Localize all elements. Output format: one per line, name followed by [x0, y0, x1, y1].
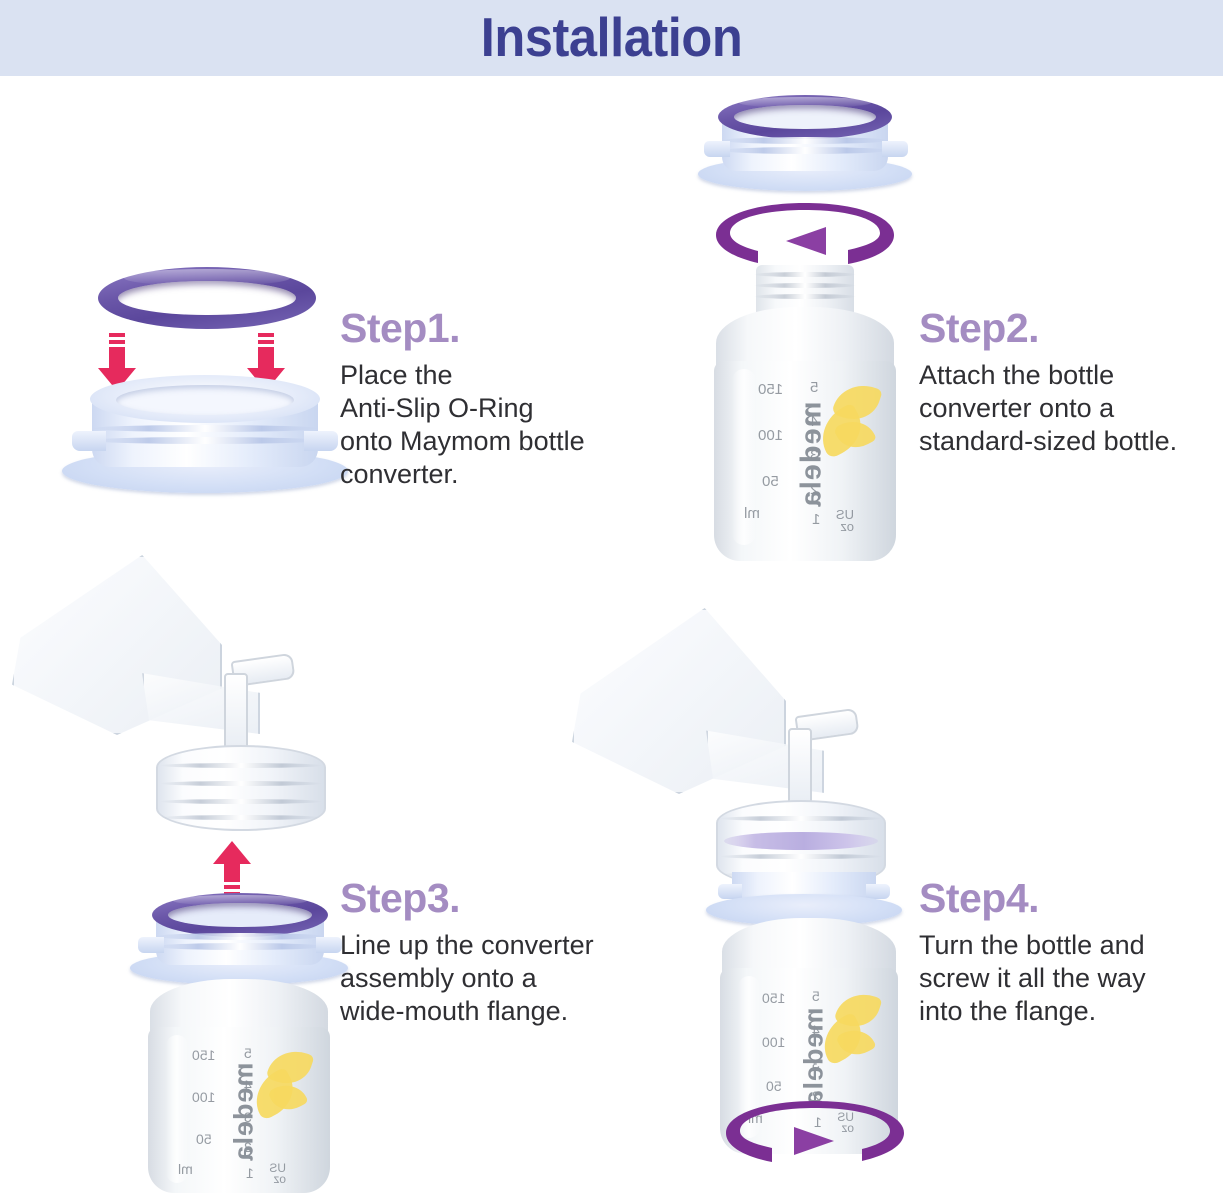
- bottle-oz-mark-4: 4: [244, 1077, 252, 1093]
- bottle-ml-mark-50: 50: [766, 1078, 782, 1094]
- flange-collar-ridge-2: [720, 854, 882, 859]
- bottle-oz-mark-2: 2: [810, 481, 818, 498]
- converter-tab-right: [866, 884, 890, 899]
- bottle-oz-mark-4: 4: [810, 413, 818, 430]
- converter-tab-right: [304, 431, 338, 451]
- bottle-neck-thread-2: [754, 283, 856, 288]
- converter-tab-left: [72, 431, 106, 451]
- rotation-arrow-counterclockwise: [708, 197, 902, 269]
- o-ring-part: [98, 267, 316, 329]
- bottle-ml-mark-100: 100: [762, 1034, 785, 1050]
- wide-mouth-flange: [560, 600, 890, 890]
- bottle-oz-mark-2: 2: [244, 1139, 252, 1155]
- converter-with-oring: [128, 893, 350, 993]
- flange-collar-ridge-1: [160, 763, 322, 768]
- bottle-oz-unit: US oz: [830, 509, 854, 533]
- step1-body: Place the Anti-Slip O-Ring onto Maymom b…: [340, 359, 640, 491]
- bottle-neck-thread-3: [754, 294, 856, 299]
- step1-illustration: [60, 255, 350, 505]
- bottle-ml-unit: ml: [744, 505, 760, 522]
- bottle-ml-mark-150: 150: [192, 1047, 215, 1063]
- step1-text-block: Step1. Place the Anti-Slip O-Ring onto M…: [340, 305, 640, 491]
- wide-mouth-flange: [10, 545, 330, 835]
- bottle-oz-unit: US oz: [264, 1163, 286, 1185]
- converter-thread-2: [722, 147, 888, 154]
- step4-body: Turn the bottle and screw it all the way…: [919, 929, 1199, 1028]
- step3-illustration: medela 150 100 50 ml 5 4 3 2 1 US oz: [10, 545, 350, 1190]
- bottle-ml-mark-50: 50: [762, 473, 779, 490]
- flange-collar-ridge-3: [160, 799, 322, 804]
- up-arrow: [210, 841, 254, 899]
- flange-collar-ridge-2: [160, 781, 322, 786]
- o-ring-inner: [168, 903, 312, 928]
- o-ring-part: [718, 95, 892, 139]
- bottle-oz-mark-1: 1: [812, 511, 820, 528]
- bottle-oz-mark-5: 5: [244, 1045, 252, 1061]
- converter-tab-left: [718, 884, 742, 899]
- bottle-shoulder: [716, 307, 894, 369]
- step2-heading: Step2.: [919, 305, 1209, 351]
- step1-heading: Step1.: [340, 305, 640, 351]
- flange-collar-ridge-4: [162, 815, 320, 820]
- step2-illustration: medela 150 100 50 ml 5 4 3 2 1 US oz: [690, 95, 920, 565]
- step4-heading: Step4.: [919, 875, 1199, 921]
- converter-tab-right: [316, 937, 342, 953]
- o-ring-visible-through-collar: [724, 832, 878, 850]
- step2-body: Attach the bottle converter onto a stand…: [919, 359, 1209, 458]
- title-banner: Installation: [0, 0, 1223, 76]
- converter-thread-1: [722, 137, 888, 144]
- page-title: Installation: [49, 0, 1174, 74]
- bottle-ml-unit: ml: [178, 1161, 193, 1177]
- converter-tab-left: [704, 141, 730, 157]
- flange-collar-ridge-1: [720, 816, 882, 821]
- bottle-oz-mark-5: 5: [810, 379, 818, 396]
- converter-thread-1: [156, 933, 324, 940]
- step4-text-block: Step4. Turn the bottle and screw it all …: [919, 875, 1199, 1028]
- bottle-neck-thread-1: [754, 272, 856, 277]
- rotation-arrow-clockwise: [718, 1095, 912, 1173]
- converter-thread-2: [92, 437, 318, 444]
- converter-tab-right: [882, 141, 908, 157]
- converter-assembly-on-bottle: medela 150 100 50 ml 5 4 3 2 1 US oz: [128, 893, 350, 1193]
- bottle-ml-mark-150: 150: [758, 381, 783, 398]
- bottle-ml-mark-50: 50: [196, 1131, 212, 1147]
- converter-thread-2: [156, 943, 324, 950]
- medela-bottle: medela 150 100 50 ml 5 4 3 2 1 US oz: [706, 265, 902, 565]
- o-ring-inner: [118, 281, 297, 316]
- bottle-oz-mark-5: 5: [812, 988, 820, 1004]
- converter-mouth-opening: [116, 385, 294, 415]
- step4-illustration: medela 150 100 50 ml 5 4 3 2 1 US oz: [560, 600, 920, 1185]
- bottle-ml-mark-100: 100: [758, 427, 783, 444]
- bottle-oz-mark-3: 3: [810, 447, 818, 464]
- converter-tab-left: [138, 937, 164, 953]
- bottle-oz-mark-4: 4: [812, 1022, 820, 1038]
- bottle-oz-mark-1: 1: [246, 1165, 254, 1181]
- step2-text-block: Step2. Attach the bottle converter onto …: [919, 305, 1209, 458]
- converter-with-oring-assembly: [696, 95, 914, 200]
- o-ring-part: [152, 893, 328, 937]
- converter-thread-1: [92, 425, 318, 432]
- bottle-ml-mark-150: 150: [762, 990, 785, 1006]
- bottle-ml-mark-100: 100: [192, 1089, 215, 1105]
- bottle-oz-mark-3: 3: [812, 1056, 820, 1072]
- bottle-converter-part: [60, 373, 350, 498]
- installation-infographic: Installation: [0, 0, 1223, 1200]
- bottle-oz-mark-3: 3: [244, 1109, 252, 1125]
- medela-bottle: medela 150 100 50 ml 5 4 3 2 1 US oz: [140, 979, 338, 1193]
